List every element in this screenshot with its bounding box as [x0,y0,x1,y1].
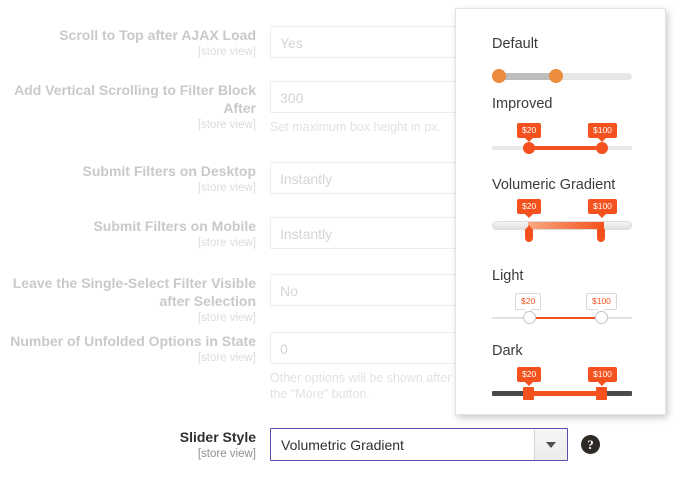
field-label-block: Number of Unfolded Options in State [sto… [0,332,270,366]
slider-value-bubble-high: $100 [588,123,617,138]
slider-handle-high[interactable] [596,142,608,154]
field-row-unfolded-options: Number of Unfolded Options in State [sto… [0,332,530,402]
field-label-block: Slider Style [store view] [0,428,270,462]
field-label-block: Leave the Single-Select Filter Visible a… [0,274,270,326]
slider-preview-default [492,55,632,99]
slider-demo-light: Light $20 $100 [492,267,632,331]
chevron-down-icon[interactable] [534,429,567,460]
slider-fill [528,391,604,396]
field-scope: [store view] [0,181,256,196]
field-scope: [store view] [0,311,256,326]
slider-handle-high[interactable] [596,387,607,400]
slider-fill [528,222,604,229]
slider-demo-title: Improved [492,95,632,113]
question-mark-icon[interactable]: ? [581,435,600,454]
slider-demo-dark: Dark $20 $100 [492,342,632,406]
slider-value-bubble-low: $20 [515,293,541,310]
field-scope: [store view] [0,118,256,133]
slider-handle-high[interactable] [549,69,563,83]
field-row-submit-mobile: Submit Filters on Mobile [store view] In… [0,217,530,251]
field-scope: [store view] [0,351,256,366]
field-scope: [store view] [0,447,256,462]
field-label: Add Vertical Scrolling to Filter Block A… [0,81,256,117]
field-row-vertical-scrolling: Add Vertical Scrolling to Filter Block A… [0,81,530,135]
slider-handle-high[interactable] [595,311,608,324]
field-row-slider-style: Slider Style [store view] Volumetric Gra… [0,428,600,462]
field-label: Number of Unfolded Options in State [0,332,256,350]
slider-style-select[interactable]: Volumetric Gradient [270,428,568,461]
slider-handle-high[interactable] [597,229,605,242]
slider-preview-volumetric: $20 $100 [492,196,632,240]
slider-preview-dark: $20 $100 [492,362,632,406]
field-label-block: Submit Filters on Mobile [store view] [0,217,270,251]
field-scope: [store view] [0,45,256,60]
field-label: Leave the Single-Select Filter Visible a… [0,274,256,310]
field-label: Submit Filters on Mobile [0,217,256,235]
slider-handle-low[interactable] [523,142,535,154]
field-label: Submit Filters on Desktop [0,162,256,180]
slider-value-bubble-low: $20 [517,123,541,138]
slider-handle-low[interactable] [492,69,506,83]
field-label-block: Submit Filters on Desktop [store view] [0,162,270,196]
slider-preview-light: $20 $100 [492,287,632,331]
slider-fill [529,146,602,150]
slider-fill [529,317,602,319]
slider-demo-title: Default [492,35,632,53]
slider-style-selected-value: Volumetric Gradient [271,429,534,460]
slider-handle-low[interactable] [523,387,534,400]
slider-demo-title: Volumeric Gradient [492,176,632,194]
field-label-block: Scroll to Top after AJAX Load [store vie… [0,26,270,60]
slider-demo-title: Light [492,267,632,285]
slider-demo-volumetric-gradient: Volumeric Gradient $20 $100 [492,176,632,240]
slider-handle-low[interactable] [525,229,533,242]
field-label-block: Add Vertical Scrolling to Filter Block A… [0,81,270,133]
slider-handle-low[interactable] [523,311,536,324]
slider-style-control-block: Volumetric Gradient ? [270,428,600,461]
page-title: Slider Style [0,428,256,446]
slider-value-bubble-high: $100 [588,367,617,382]
field-row-submit-desktop: Submit Filters on Desktop [store view] I… [0,162,530,196]
slider-preview-improved: $20 $100 [492,115,632,159]
field-row-scroll-to-top: Scroll to Top after AJAX Load [store vie… [0,26,530,60]
slider-demo-default: Default [492,35,632,99]
field-label: Scroll to Top after AJAX Load [0,26,256,44]
slider-value-bubble-low: $20 [517,199,541,214]
slider-value-bubble-high: $100 [588,199,617,214]
slider-value-bubble-low: $20 [517,367,541,382]
field-row-single-select-visible: Leave the Single-Select Filter Visible a… [0,274,530,326]
slider-demo-title: Dark [492,342,632,360]
slider-style-preview-popup: Default Improved $20 $100 Volumeric Grad… [455,8,666,415]
slider-value-bubble-high: $100 [586,293,617,310]
slider-demo-improved: Improved $20 $100 [492,95,632,159]
field-scope: [store view] [0,236,256,251]
